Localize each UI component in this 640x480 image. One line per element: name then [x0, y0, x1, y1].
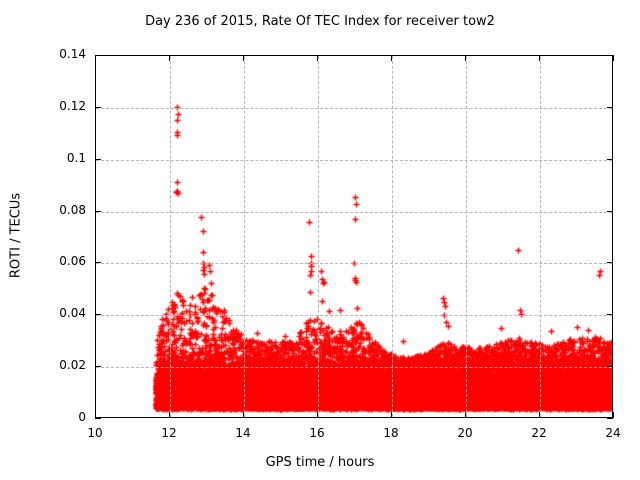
y-tick-label: 0.06	[0, 254, 86, 268]
y-tick-mark	[95, 366, 101, 367]
x-tick-label: 12	[139, 426, 199, 440]
x-tick-label: 16	[287, 426, 347, 440]
x-tick-mark	[539, 55, 540, 61]
x-tick-mark	[95, 55, 96, 61]
x-tick-mark	[169, 55, 170, 61]
x-tick-label: 24	[583, 426, 640, 440]
x-tick-mark	[317, 55, 318, 61]
y-tick-mark	[95, 418, 101, 419]
x-tick-label: 20	[435, 426, 495, 440]
x-tick-label: 14	[213, 426, 273, 440]
y-tick-label: 0.02	[0, 358, 86, 372]
x-tick-mark	[613, 412, 614, 418]
y-tick-label: 0.14	[0, 47, 86, 61]
x-tick-label: 10	[65, 426, 125, 440]
y-tick-mark	[607, 211, 613, 212]
x-tick-label: 22	[509, 426, 569, 440]
y-tick-mark	[95, 107, 101, 108]
x-tick-mark	[465, 55, 466, 61]
gridline-vertical	[170, 56, 171, 417]
x-axis-title: GPS time / hours	[0, 455, 640, 470]
x-tick-mark	[243, 412, 244, 418]
gridline-horizontal	[96, 315, 612, 316]
y-tick-mark	[95, 314, 101, 315]
gridline-horizontal	[96, 160, 612, 161]
x-tick-label: 18	[361, 426, 421, 440]
plot-area	[95, 55, 613, 418]
x-tick-mark	[465, 412, 466, 418]
y-tick-mark	[607, 107, 613, 108]
x-tick-mark	[243, 55, 244, 61]
y-tick-label: 0.08	[0, 203, 86, 217]
gridline-horizontal	[96, 212, 612, 213]
x-tick-mark	[613, 55, 614, 61]
y-tick-mark	[607, 159, 613, 160]
y-tick-mark	[607, 366, 613, 367]
y-tick-mark	[95, 262, 101, 263]
y-tick-label: 0.04	[0, 306, 86, 320]
x-tick-mark	[169, 412, 170, 418]
y-tick-mark	[607, 262, 613, 263]
y-tick-label: 0.12	[0, 99, 86, 113]
page-title: Day 236 of 2015, Rate Of TEC Index for r…	[0, 14, 640, 29]
y-axis-title: ROTI / TECUs	[9, 156, 24, 316]
gridline-horizontal	[96, 263, 612, 264]
gridline-vertical	[392, 56, 393, 417]
x-tick-mark	[391, 412, 392, 418]
y-tick-mark	[607, 314, 613, 315]
gridline-vertical	[540, 56, 541, 417]
gridline-horizontal	[96, 108, 612, 109]
y-tick-mark	[95, 211, 101, 212]
y-tick-label: 0.1	[0, 151, 86, 165]
y-tick-mark	[95, 159, 101, 160]
gridline-horizontal	[96, 367, 612, 368]
x-tick-mark	[95, 412, 96, 418]
x-tick-mark	[539, 412, 540, 418]
x-tick-mark	[317, 412, 318, 418]
y-tick-mark	[607, 418, 613, 419]
x-tick-mark	[391, 55, 392, 61]
scatter-plot-canvas	[96, 56, 613, 418]
gridline-vertical	[244, 56, 245, 417]
gridline-vertical	[318, 56, 319, 417]
chart-root: Day 236 of 2015, Rate Of TEC Index for r…	[0, 0, 640, 480]
gridline-vertical	[466, 56, 467, 417]
y-tick-label: 0	[0, 410, 86, 424]
